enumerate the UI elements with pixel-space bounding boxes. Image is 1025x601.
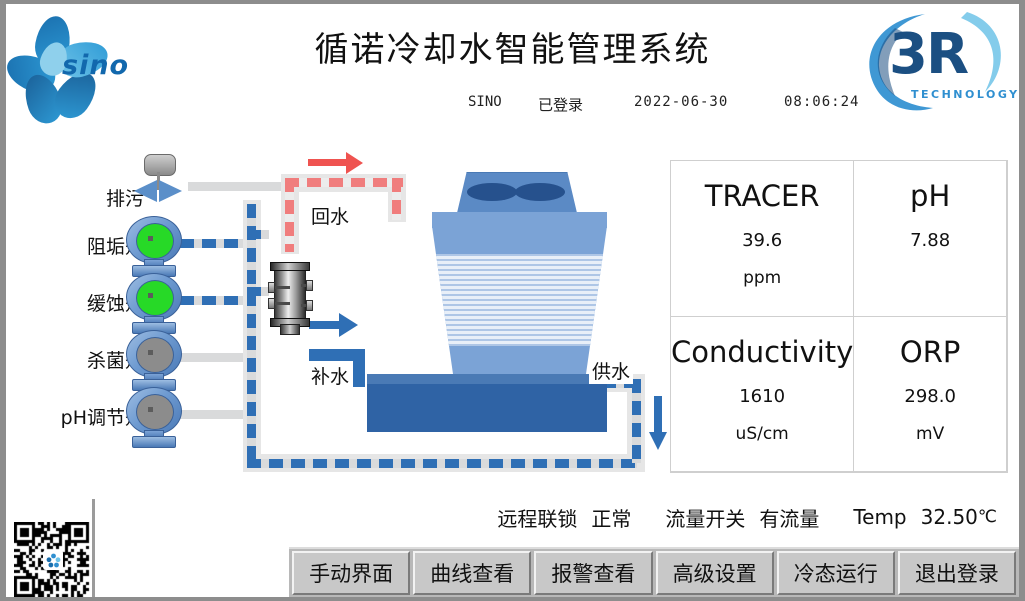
fan-blade-left-icon <box>467 183 517 201</box>
return-water-flow-left <box>285 178 294 252</box>
supply-water-arrow-head <box>649 432 667 450</box>
temperature-value: 32.50 <box>921 505 978 529</box>
filter-cap-right-upper-icon <box>306 280 313 291</box>
navigation-button-bar: 手动界面 曲线查看 报警查看 高级设置 冷态运行 退出登录 <box>289 547 1019 597</box>
filter-cap-right-lower-icon <box>306 300 313 311</box>
system-date: 2022-06-30 <box>634 94 728 110</box>
qr-center-logo-icon <box>43 550 63 570</box>
antiscalant-feed-pipe <box>180 239 252 248</box>
measurement-unit: ppm <box>743 268 781 288</box>
3r-logo-subtitle: TECHNOLOGY <box>911 88 1019 101</box>
tower-top-rim-icon <box>432 212 607 228</box>
measurement-panel: TRACER 39.6 ppm pH 7.88 Conductivity 161… <box>670 160 1008 473</box>
page-title: 循诺冷却水智能管理系统 <box>6 22 1019 71</box>
system-time: 08:06:24 <box>784 94 859 110</box>
measurement-name: pH <box>910 179 950 213</box>
loop-flow-left <box>247 204 256 468</box>
pump-base-icon <box>132 436 176 448</box>
return-water-arrow-head <box>346 152 363 174</box>
cooling-tower[interactable] <box>347 172 587 422</box>
measurement-unit: uS/cm <box>736 424 789 444</box>
interlock-label: 远程联锁 <box>497 503 577 532</box>
filter-shell-icon <box>274 266 306 326</box>
hmi-screen: sino 3R TECHNOLOGY 循诺冷却水智能管理系统 SINO 已登录 … <box>6 4 1019 597</box>
ph-adjuster-feed-pipe <box>180 410 252 419</box>
logout-button[interactable]: 退出登录 <box>898 551 1016 595</box>
dosing-pump-ph-adjuster[interactable] <box>124 387 182 449</box>
side-stream-filter-icon[interactable] <box>268 256 310 334</box>
pump-rotor-icon <box>136 394 174 430</box>
blowdown-valve-icon[interactable] <box>126 154 190 204</box>
pump-shaft-icon <box>148 293 153 298</box>
measurement-cell-ph[interactable]: pH 7.88 <box>853 160 1007 317</box>
filter-cap-upper-icon <box>268 282 275 293</box>
filter-top-flange-icon <box>270 262 310 271</box>
status-bar: 远程联锁 正常 流量开关 有流量 Temp 32.50 ℃ <box>6 499 1019 535</box>
valve-left-body-icon <box>134 180 157 202</box>
filter-drain-icon <box>280 324 300 335</box>
temperature-label: Temp <box>853 505 906 529</box>
dosing-pump-corrosion-inhibitor[interactable] <box>124 273 182 335</box>
pump-rotor-icon <box>136 337 174 373</box>
pump-rotor-icon <box>136 223 174 259</box>
alarm-view-button[interactable]: 报警查看 <box>534 551 652 595</box>
fan-blade-right-icon <box>515 183 565 201</box>
return-water-label: 回水 <box>308 202 352 229</box>
filter-cap-lower-icon <box>268 298 275 309</box>
measurement-name: Conductivity <box>671 335 853 369</box>
tower-fill-slats-icon <box>432 254 607 346</box>
pump-shaft-icon <box>148 236 153 241</box>
temperature-unit: ℃ <box>978 507 997 527</box>
blowdown-pipe <box>188 182 296 191</box>
measurement-value: 1610 <box>739 386 785 407</box>
supply-water-label: 供水 <box>589 357 633 384</box>
corrosion-injection-flow <box>247 287 269 296</box>
flowswitch-value: 有流量 <box>759 503 819 532</box>
measurement-name: TRACER <box>705 179 820 213</box>
manual-interface-button[interactable]: 手动界面 <box>292 551 410 595</box>
corrosion-inhibitor-feed-pipe <box>180 296 252 305</box>
tower-basin-icon <box>367 384 607 432</box>
current-user: SINO <box>468 94 502 110</box>
measurement-unit: mV <box>916 424 944 444</box>
pump-shaft-icon <box>148 350 153 355</box>
makeup-water-arrow-shaft <box>309 321 341 329</box>
biocide-feed-pipe <box>180 353 252 362</box>
antiscalant-injection-flow <box>247 230 269 239</box>
advanced-settings-button[interactable]: 高级设置 <box>656 551 774 595</box>
valve-right-body-icon <box>159 180 182 202</box>
loop-flow-bottom <box>247 459 637 468</box>
measurement-cell-orp[interactable]: ORP 298.0 mV <box>853 316 1007 473</box>
flowswitch-label: 流量开关 <box>665 503 745 532</box>
tower-fan-cowl-icon <box>457 172 577 213</box>
application-window: sino 3R TECHNOLOGY 循诺冷却水智能管理系统 SINO 已登录 … <box>0 0 1025 601</box>
sino-mini-icon <box>46 553 61 568</box>
dosing-pump-antiscalant[interactable] <box>124 216 182 278</box>
measurement-name: ORP <box>900 335 960 369</box>
pump-housing-icon <box>126 330 182 378</box>
supply-water-arrow-shaft <box>654 396 662 436</box>
pump-housing-icon <box>126 387 182 435</box>
pump-shaft-icon <box>148 407 153 412</box>
measurement-cell-conductivity[interactable]: Conductivity 1610 uS/cm <box>670 316 854 473</box>
measurement-value: 7.88 <box>910 230 950 251</box>
pump-housing-icon <box>126 273 182 321</box>
trend-view-button[interactable]: 曲线查看 <box>413 551 531 595</box>
measurement-value: 298.0 <box>904 386 956 407</box>
tower-body-icon <box>432 226 607 374</box>
login-status: 已登录 <box>538 94 583 115</box>
valve-actuator-icon <box>144 154 176 176</box>
dosing-pump-biocide[interactable] <box>124 330 182 392</box>
supply-flow-vertical <box>632 379 641 463</box>
interlock-value: 正常 <box>591 503 631 532</box>
cold-start-button[interactable]: 冷态运行 <box>777 551 895 595</box>
return-water-arrow-shaft <box>308 159 348 166</box>
sidebar-divider <box>92 499 95 597</box>
makeup-water-label: 补水 <box>308 362 352 389</box>
pump-rotor-icon <box>136 280 174 316</box>
measurement-value: 39.6 <box>742 230 782 251</box>
measurement-cell-tracer[interactable]: TRACER 39.6 ppm <box>670 160 854 317</box>
pump-housing-icon <box>126 216 182 264</box>
qr-code[interactable] <box>14 522 92 597</box>
